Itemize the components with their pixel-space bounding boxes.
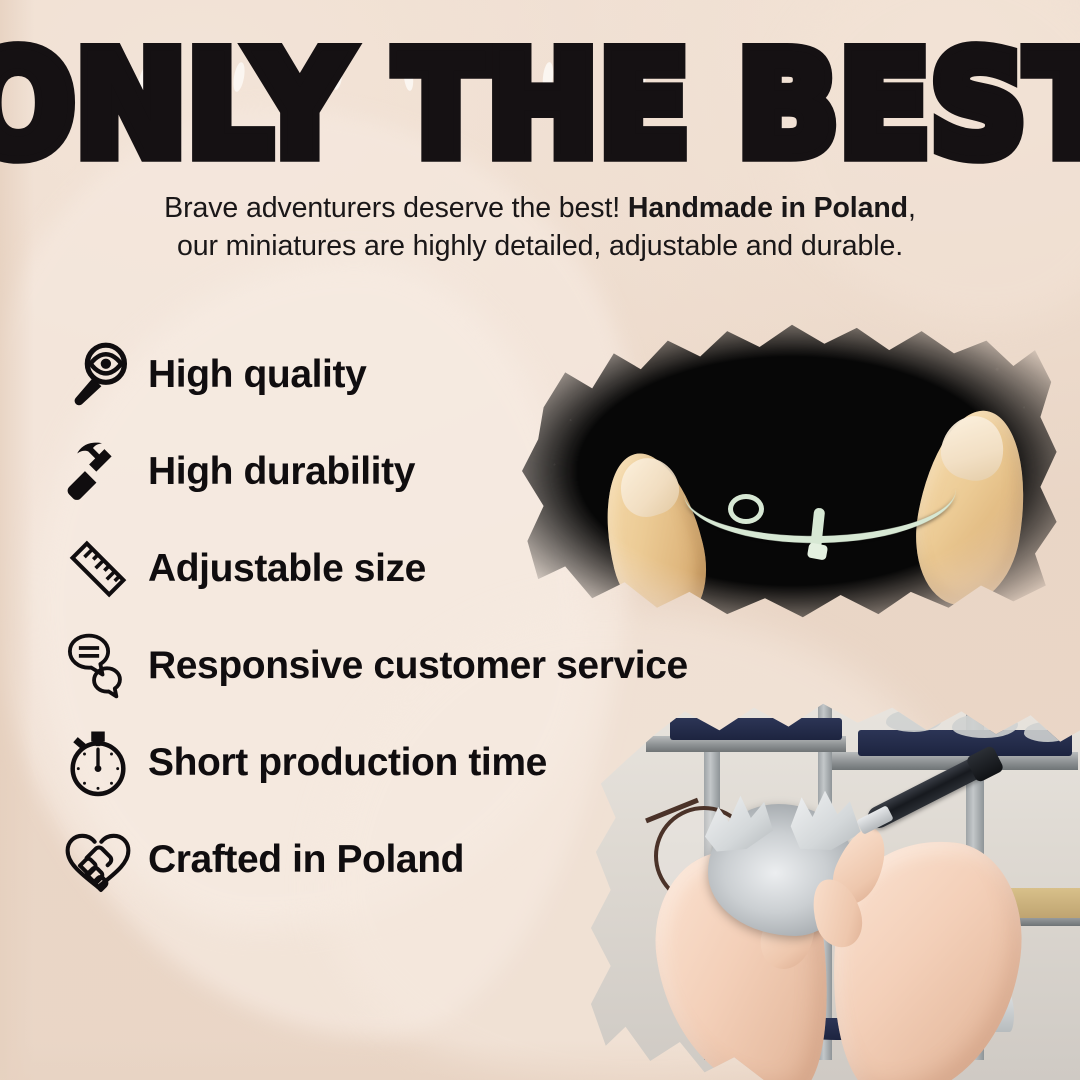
feature-item-responsive-customer-service: Responsive customer service: [62, 617, 802, 714]
feature-label: High quality: [148, 353, 366, 397]
headline-text: ONLY THE BEST: [0, 34, 1080, 176]
feature-label: Responsive customer service: [148, 644, 688, 688]
hammer-icon: [62, 436, 148, 508]
promo-poster: ONLY THE BEST Brave adventurers deserve …: [0, 0, 1080, 1080]
feature-list: High quality High durability: [62, 326, 802, 908]
feature-item-high-quality: High quality: [62, 326, 802, 423]
subtitle-line2: our miniatures are highly detailed, adju…: [177, 230, 903, 262]
subtitle-tail: ,: [908, 192, 916, 224]
feature-label: Crafted in Poland: [148, 838, 464, 882]
feature-label: Adjustable size: [148, 547, 426, 591]
feature-item-high-durability: High durability: [62, 423, 802, 520]
feature-label: Short production time: [148, 741, 547, 785]
shelf-miniature-c: [1024, 722, 1072, 742]
magnifier-eye-icon: [62, 339, 148, 411]
speech-bubbles-icon: [62, 630, 148, 702]
feature-item-crafted-in-poland: Crafted in Poland: [62, 811, 802, 908]
stopwatch-icon: [62, 727, 148, 799]
feature-item-short-production-time: Short production time: [62, 714, 802, 811]
miniature-tip-detail: [807, 542, 828, 560]
subtitle-emphasis: Handmade in Poland: [628, 192, 908, 224]
subtitle-lead: Brave adventurers deserve the best!: [164, 192, 628, 224]
ruler-icon: [62, 533, 148, 605]
feature-item-adjustable-size: Adjustable size: [62, 520, 802, 617]
headline: ONLY THE BEST: [0, 34, 1080, 152]
heart-handshake-icon: [62, 824, 148, 896]
feature-label: High durability: [148, 450, 415, 494]
subtitle: Brave adventurers deserve the best! Hand…: [90, 190, 990, 266]
